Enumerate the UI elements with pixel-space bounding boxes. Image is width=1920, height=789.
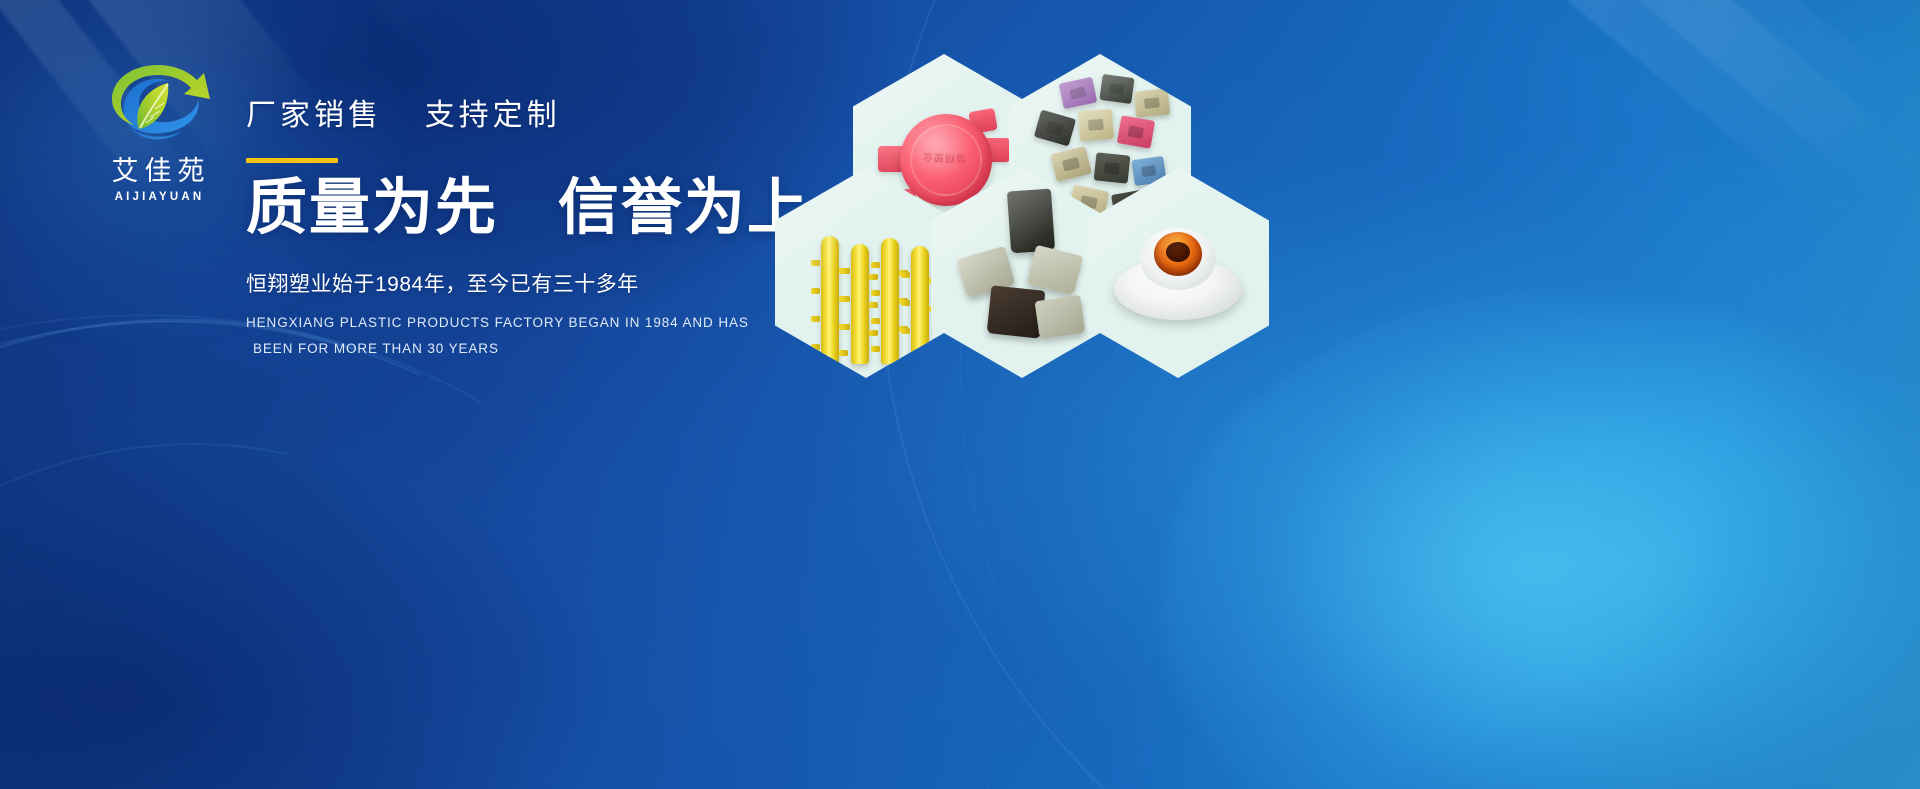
leaf-swoosh-icon — [94, 55, 222, 147]
english-subtitle: HENGXIANG PLASTIC PRODUCTS FACTORY BEGAN… — [246, 310, 866, 363]
gold-divider — [246, 158, 338, 163]
promo-banner: 艾佳苑 AIJIAYUAN 厂家销售 支持定制 质量为先 信誉为上 恒翔塑业始于… — [0, 0, 1920, 789]
headline-part-2: 信誉为上 — [558, 173, 810, 241]
headline-part-1: 质量为先 — [246, 173, 498, 241]
english-line-2: BEEN FOR MORE THAN 30 YEARS — [246, 336, 866, 362]
logo-name-cn: 艾佳苑 — [78, 149, 238, 188]
copy-block: 厂家销售 支持定制 质量为先 信誉为上 恒翔塑业始于1984年，至今已有三十多年… — [246, 90, 866, 363]
kicker-line: 厂家销售 支持定制 — [246, 90, 866, 134]
kicker-part-1: 厂家销售 — [246, 99, 382, 132]
company-logo[interactable]: 艾佳苑 AIJIAYUAN — [78, 55, 238, 203]
subline: 恒翔塑业始于1984年，至今已有三十多年 — [246, 268, 866, 298]
headline: 质量为先 信誉为上 — [246, 175, 866, 241]
product-hexagon-cluster: 恒翔塑业 — [795, 46, 1315, 386]
logo-name-pinyin: AIJIAYUAN — [78, 191, 238, 203]
kicker-part-2: 支持定制 — [425, 99, 561, 132]
english-line-1: HENGXIANG PLASTIC PRODUCTS FACTORY BEGAN… — [246, 310, 866, 336]
